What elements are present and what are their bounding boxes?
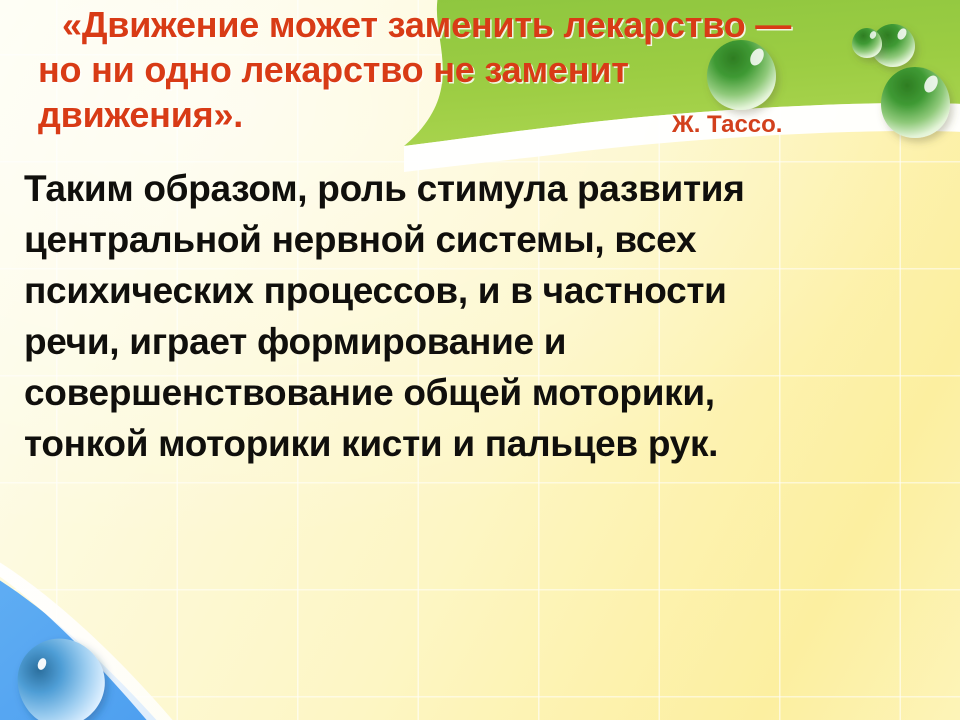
title-line-3: движения». (26, 92, 936, 137)
body-line-3: психических процессов, и в частности (24, 265, 924, 316)
title-line-2: но ни одно лекарство не заменит (26, 47, 936, 92)
body-line-5: совершенствование общей моторики, (24, 367, 924, 418)
title-line-1: «Движение может заменить лекарство — (26, 2, 936, 47)
body-line-4: речи, играет формирование и (24, 316, 924, 367)
body-line-2: центральной нервной системы, всех (24, 214, 924, 265)
slide-canvas: «Движение может заменить лекарство — но … (0, 0, 960, 720)
slide-title: «Движение может заменить лекарство — но … (26, 2, 936, 137)
slide-body-text: Таким образом, роль стимула развития цен… (24, 163, 924, 469)
body-line-1: Таким образом, роль стимула развития (24, 163, 924, 214)
body-line-6: тонкой моторики кисти и пальцев рук. (24, 418, 924, 469)
quote-attribution: Ж. Тассо. (672, 111, 782, 139)
